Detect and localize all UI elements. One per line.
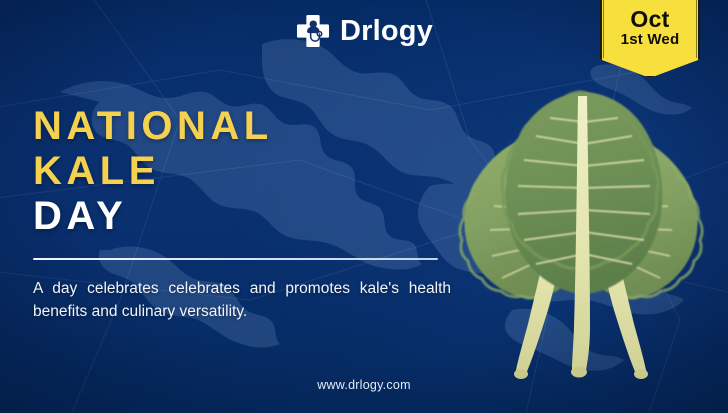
headline-block: NATIONAL KALE DAY A day celebrates celeb… [33,104,453,323]
title-divider [33,258,438,260]
title-line-2: KALE [33,149,453,194]
date-badge-day: 1st Wed [600,31,700,49]
medical-cross-doctor-icon [295,13,331,49]
title-line-3: DAY [33,194,453,239]
date-badge: Oct 1st Wed [600,0,700,78]
title-line-1: NATIONAL [33,104,453,149]
footer: www.drlogy.com [0,376,728,394]
poster-canvas: Drlogy Oct 1st Wed [0,0,728,413]
kale-leaves-illustration [440,78,728,388]
date-badge-text: Oct 1st Wed [600,7,700,49]
footer-website-url[interactable]: www.drlogy.com [317,378,411,392]
brand-name: Drlogy [340,17,433,46]
subtitle-text: A day celebrates celebrates and promotes… [33,278,451,323]
date-badge-month: Oct [600,7,700,31]
